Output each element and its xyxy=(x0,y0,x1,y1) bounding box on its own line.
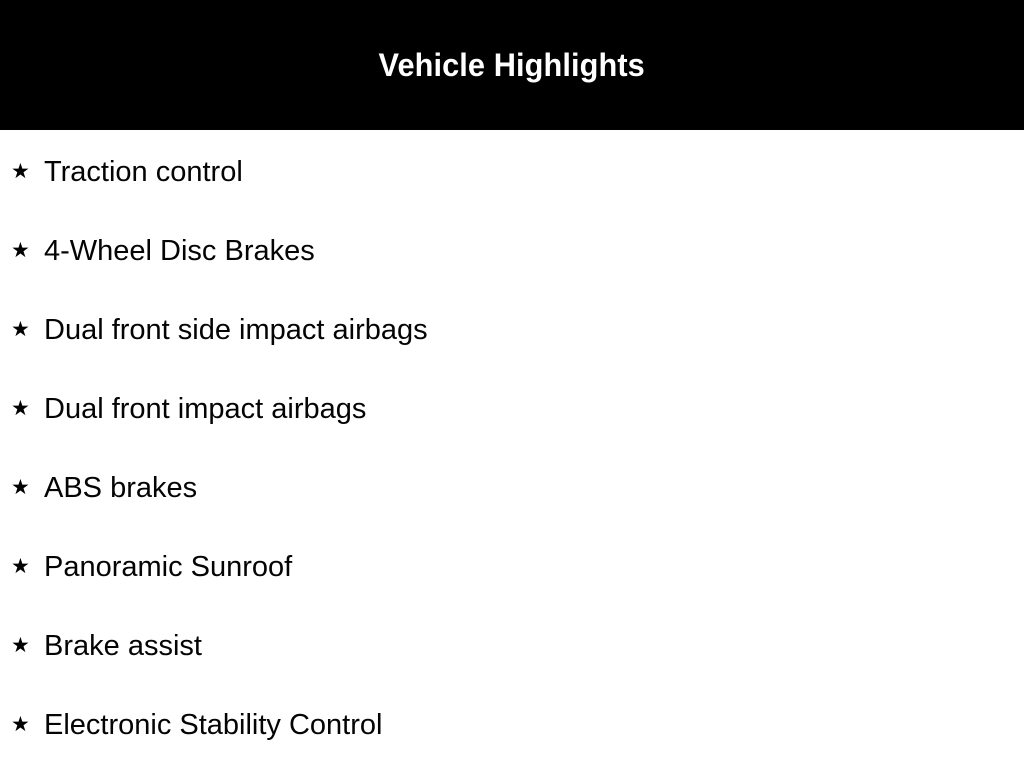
star-icon: ★ xyxy=(11,240,33,261)
star-icon: ★ xyxy=(11,161,33,182)
star-icon: ★ xyxy=(11,398,33,419)
star-icon: ★ xyxy=(11,477,33,498)
star-icon: ★ xyxy=(11,635,33,656)
list-item[interactable]: ★ Dual front impact airbags xyxy=(0,370,1024,449)
star-icon: ★ xyxy=(11,319,33,340)
star-icon: ★ xyxy=(11,714,33,735)
list-item-label: Electronic Stability Control xyxy=(44,711,382,740)
list-item[interactable]: ★ Dual front side impact airbags xyxy=(0,291,1024,370)
list-item-label: Brake assist xyxy=(44,632,202,661)
vehicle-highlights-page: Vehicle Highlights ★ Traction control ★ … xyxy=(0,0,1024,768)
vehicle-highlights-list: ★ Traction control ★ 4-Wheel Disc Brakes… xyxy=(0,130,1024,768)
list-item[interactable]: ★ Brake assist xyxy=(0,607,1024,686)
list-item[interactable]: ★ Panoramic Sunroof xyxy=(0,528,1024,607)
list-item[interactable]: ★ Traction control xyxy=(0,133,1024,212)
list-item-label: Traction control xyxy=(44,158,243,187)
list-item-label: 4-Wheel Disc Brakes xyxy=(44,237,315,266)
list-item[interactable]: ★ Electronic Stability Control xyxy=(0,686,1024,765)
star-icon: ★ xyxy=(11,556,33,577)
list-item-label: Dual front impact airbags xyxy=(44,395,366,424)
page-title: Vehicle Highlights xyxy=(379,49,645,81)
page-header: Vehicle Highlights xyxy=(0,0,1024,130)
list-item[interactable]: ★ ABS brakes xyxy=(0,449,1024,528)
list-item-label: Panoramic Sunroof xyxy=(44,553,292,582)
list-item[interactable]: ★ 4-Wheel Disc Brakes xyxy=(0,212,1024,291)
list-item-label: Dual front side impact airbags xyxy=(44,316,428,345)
list-item-label: ABS brakes xyxy=(44,474,197,503)
